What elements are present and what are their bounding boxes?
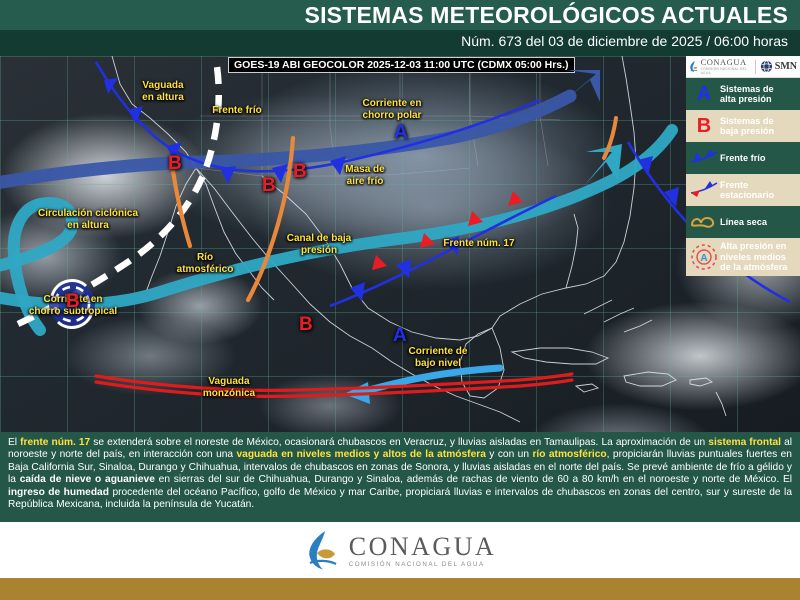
legend-item-label: Línea seca [720, 217, 767, 228]
map-label-corriente-de-bajo-nivel: Corriente de bajo nivel [400, 346, 476, 369]
footer-accent-bar [0, 578, 800, 600]
pressure-mark-low-b-baja-california: B [168, 154, 182, 173]
svg-text:A: A [700, 253, 707, 264]
stationary-front-icon [689, 181, 719, 199]
footer-conagua-name: CONAGUA [349, 533, 497, 560]
legend-item-linea-seca[interactable]: Línea seca [686, 206, 800, 238]
legend-item-alta-presion-media[interactable]: AAlta presión en niveles medios de la at… [686, 238, 800, 276]
legend-item-frente-frio[interactable]: Frente frío [686, 142, 800, 174]
smn-logo-small: SMN [760, 60, 797, 73]
legend-item-alta-presion[interactable]: ASistemas de alta presión [686, 78, 800, 110]
legend-item-label: Alta presión en niveles medios de la atm… [720, 241, 787, 273]
pressure-mark-low-b-canal-baja: B [299, 315, 313, 334]
legend-item-label: Sistemas de baja presión [720, 116, 774, 137]
stationary-front-icon [688, 181, 720, 199]
dry-line-icon [689, 214, 719, 230]
discussion-segment: ingreso de humedad [8, 487, 109, 498]
legend-item-label: Frente estacionario [720, 180, 774, 201]
forecast-discussion-text: El frente núm. 17 se extenderá sobre el … [8, 437, 792, 511]
discussion-segment: en sierras del sur de Chihuahua, Durango… [155, 474, 792, 485]
map-label-rio-atmosferico: Río atmosférico [172, 252, 238, 275]
cold-front-icon [689, 149, 719, 167]
map-label-canal-de-baja-presion: Canal de baja presión [279, 233, 359, 256]
legend-logo-divider [755, 60, 756, 74]
map-label-corriente-chorro-polar: Corriente en chorro polar [352, 98, 432, 121]
letter-B-red-icon: B [697, 116, 711, 136]
page-footer: CONAGUA COMISIÓN NACIONAL DEL AGUA [0, 522, 800, 578]
smn-globe-icon [760, 60, 773, 73]
legend-item-label: Frente frío [720, 153, 765, 164]
map-label-masa-de-aire-frio: Masa de aire frío [336, 164, 394, 187]
map-label-circulacion-ciclonica: Circulación ciclónica en altura [32, 208, 144, 231]
discussion-segment: procedente del océano Pacífico, golfo de… [8, 487, 792, 510]
discussion-segment: río atmosférico [532, 449, 606, 460]
bulletin-number-and-date: Núm. 673 del 03 de diciembre de 2025 / 0… [461, 33, 788, 49]
conagua-logo-small: CONAGUA COMISIÓN NACIONAL DEL AGUA [689, 58, 751, 75]
legend-conagua-tagline: COMISIÓN NACIONAL DEL AGUA [701, 67, 751, 75]
legend-item-frente-estacionario[interactable]: Frente estacionario [686, 174, 800, 206]
map-label-frente-frio: Frente frío [205, 105, 269, 117]
discussion-segment: vaguada en niveles medios y altos de la … [237, 449, 486, 460]
map-label-frente-num-17: Frente núm. 17 [437, 238, 521, 250]
legend-panel[interactable]: CONAGUA COMISIÓN NACIONAL DEL AGUA SMN A… [686, 56, 800, 276]
page-title: SISTEMAS METEOROLÓGICOS ACTUALES [305, 2, 788, 29]
letter-A-blue: A [688, 84, 720, 104]
discussion-segment: sistema frontal [708, 437, 781, 448]
legend-rows: ASistemas de alta presiónBSistemas de ba… [686, 78, 800, 276]
mid-level-high-icon: A [688, 243, 720, 271]
pressure-mark-low-b-chihuahua: B [293, 162, 307, 181]
discussion-segment: y con un [486, 449, 533, 460]
pressure-mark-low-b-sonora: B [262, 176, 276, 195]
map-label-vaguada-en-altura: Vaguada en altura [128, 80, 198, 103]
cold-front-icon [688, 149, 720, 167]
legend-smn-name: SMN [775, 61, 797, 72]
map-label-vaguada-monzonica: Vaguada monzónica [196, 376, 262, 399]
letter-B-red: B [688, 116, 720, 136]
footer-conagua-tagline: COMISIÓN NACIONAL DEL AGUA [349, 561, 497, 568]
legend-conagua-name: CONAGUA [701, 58, 751, 67]
pressure-mark-high-a-texas: A [394, 123, 408, 142]
legend-logos: CONAGUA COMISIÓN NACIONAL DEL AGUA SMN [686, 56, 800, 78]
conagua-wave-mark-icon [689, 60, 699, 74]
footer-wordmark: CONAGUA COMISIÓN NACIONAL DEL AGUA [349, 533, 497, 568]
conagua-logo-icon [304, 530, 340, 570]
discussion-segment: frente núm. 17 [20, 437, 90, 448]
stationary-front-line [330, 196, 556, 306]
discussion-segment: caída de nieve o aguanieve [20, 474, 155, 485]
dry-line-icon [688, 214, 720, 230]
pressure-mark-high-a-golfo: A [393, 326, 407, 345]
satellite-weather-map[interactable]: GOES-19 ABI GEOCOLOR 2025-12-03 11:00 UT… [0, 56, 800, 432]
legend-item-baja-presion[interactable]: BSistemas de baja presión [686, 110, 800, 142]
mid-level-high-icon: A [690, 243, 718, 271]
forecast-discussion: El frente núm. 17 se extenderá sobre el … [0, 432, 800, 522]
page-header: SISTEMAS METEOROLÓGICOS ACTUALES Núm. 67… [0, 0, 800, 56]
discussion-segment: El [8, 437, 20, 448]
letter-A-blue-icon: A [697, 84, 711, 104]
discussion-segment: se extenderá sobre el noreste de México,… [90, 437, 708, 448]
pressure-mark-low-b-ciclonica: B [66, 292, 80, 311]
legend-item-label: Sistemas de alta presión [720, 84, 774, 105]
